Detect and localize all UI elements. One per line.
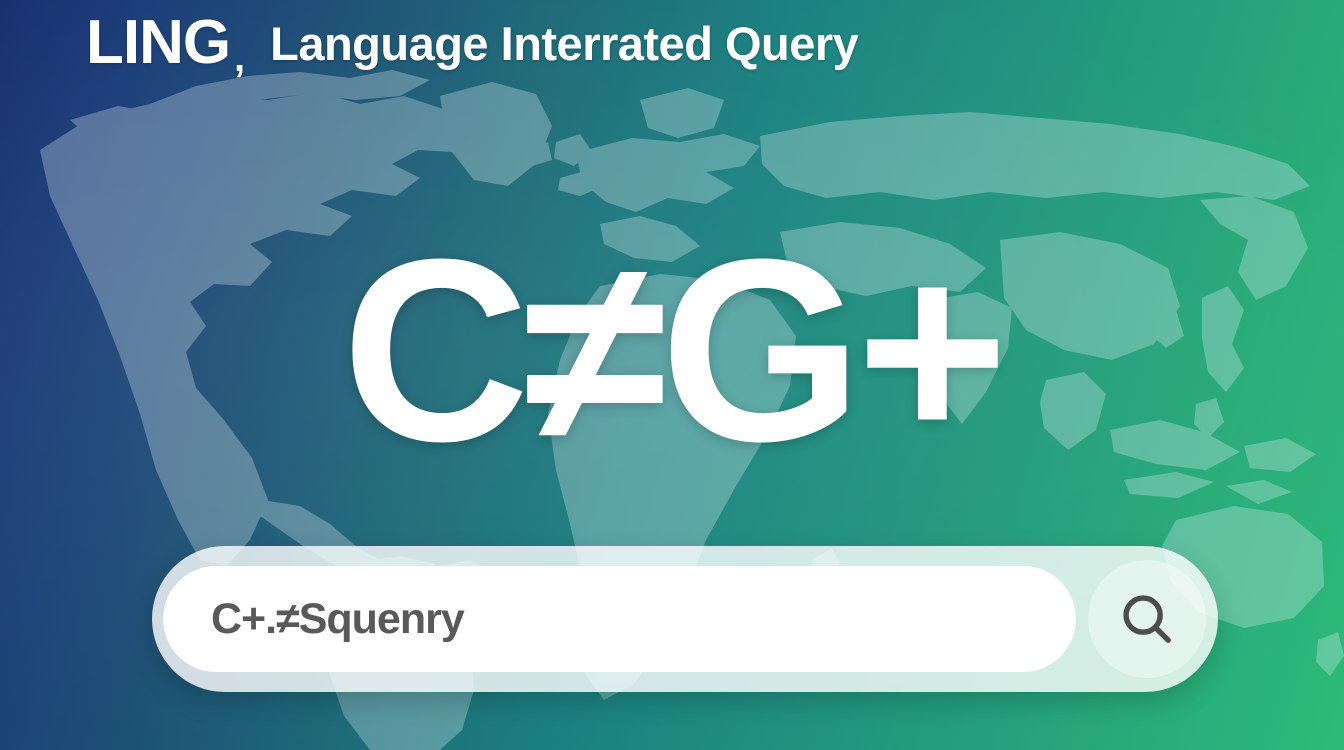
page-tagline: Language Interrated Query	[270, 20, 858, 67]
hero-title: C≠G+	[342, 232, 1003, 471]
search-bar[interactable]	[152, 546, 1218, 692]
brand-tail-mark: ,	[234, 38, 244, 78]
search-input-container[interactable]	[163, 566, 1076, 672]
brand-name: LING	[86, 8, 230, 77]
brand-logo: LING ,	[86, 12, 230, 74]
search-submit-button[interactable]	[1088, 560, 1206, 678]
hero-section: C≠G+	[0, 232, 1344, 471]
search-icon	[1116, 588, 1178, 650]
search-input[interactable]	[211, 595, 1076, 644]
page-header: LING , Language Interrated Query	[0, 2, 1344, 84]
landing-page: LING , Language Interrated Query C≠G+	[0, 0, 1344, 750]
